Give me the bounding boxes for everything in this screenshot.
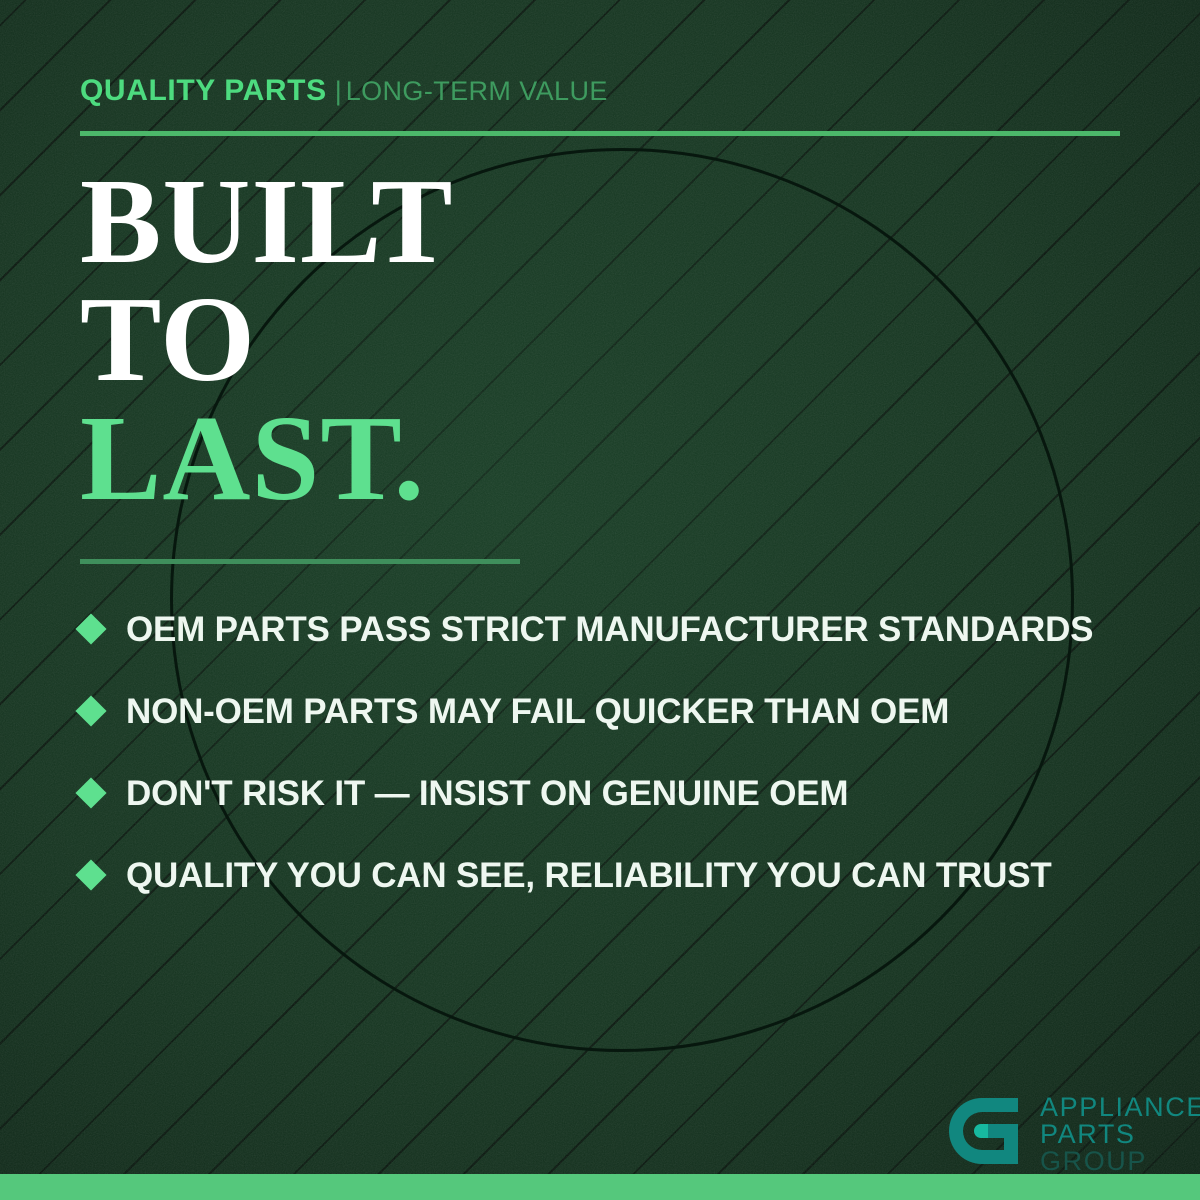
list-item: QUALITY YOU CAN SEE, RELIABILITY YOU CAN…	[80, 834, 1150, 916]
page-title: BUILT TO LAST.	[80, 163, 454, 518]
eyebrow-strong-text: QUALITY PARTS	[80, 74, 327, 107]
diamond-bullet-icon	[75, 777, 106, 808]
benefit-list: OEM PARTS PASS STRICT MANUFACTURER STAND…	[80, 588, 1150, 916]
eyebrow-header: QUALITY PARTS|LONG-TERM VALUE	[80, 76, 608, 106]
g-monogram-icon	[948, 1092, 1026, 1170]
diamond-bullet-icon	[75, 859, 106, 890]
poster-canvas: QUALITY PARTS|LONG-TERM VALUE BUILT TO L…	[0, 0, 1200, 1200]
brand-logo-wordmark: APPLIANCE PARTS GROUP	[1040, 1092, 1200, 1175]
brand-logo: APPLIANCE PARTS GROUP	[948, 1092, 1200, 1175]
list-item-label: DON'T RISK IT — INSIST ON GENUINE OEM	[126, 776, 848, 811]
brand-word-parts: PARTS	[1040, 1121, 1200, 1148]
eyebrow-light-text: LONG-TERM VALUE	[346, 76, 608, 106]
headline-line-3: LAST.	[80, 400, 454, 518]
headline-line-2: TO	[80, 281, 454, 399]
list-item-label: OEM PARTS PASS STRICT MANUFACTURER STAND…	[126, 612, 1093, 647]
list-item: DON'T RISK IT — INSIST ON GENUINE OEM	[80, 752, 1150, 834]
headline-line-1: BUILT	[80, 163, 454, 281]
brand-word-group: GROUP	[1040, 1148, 1200, 1175]
diamond-bullet-icon	[75, 613, 106, 644]
brand-word-appliance: APPLIANCE	[1040, 1094, 1200, 1121]
diamond-bullet-icon	[75, 695, 106, 726]
headline-divider-rule	[80, 559, 520, 564]
list-item-label: QUALITY YOU CAN SEE, RELIABILITY YOU CAN…	[126, 858, 1052, 893]
list-item-label: NON-OEM PARTS MAY FAIL QUICKER THAN OEM	[126, 694, 949, 729]
list-item: NON-OEM PARTS MAY FAIL QUICKER THAN OEM	[80, 670, 1150, 752]
eyebrow-separator: |	[335, 76, 342, 106]
bottom-accent-bar	[0, 1174, 1200, 1200]
list-item: OEM PARTS PASS STRICT MANUFACTURER STAND…	[80, 588, 1150, 670]
header-divider-rule	[80, 131, 1120, 136]
